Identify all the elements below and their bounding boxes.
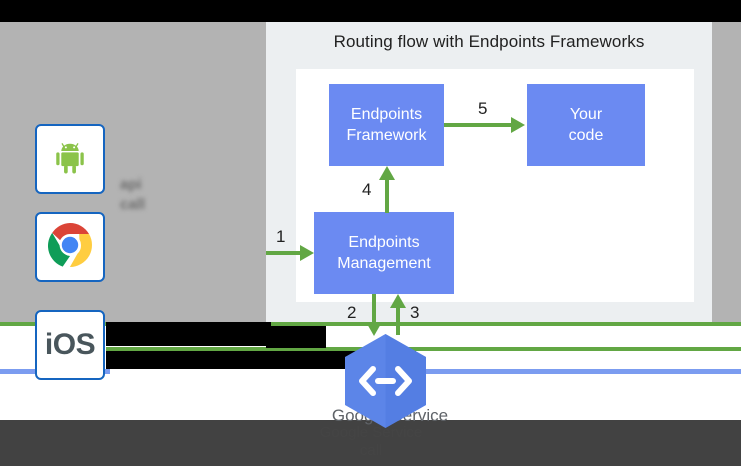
page-title: Routing flow with Endpoints Frameworks (266, 32, 712, 52)
top-black-bar (0, 0, 741, 22)
node-endpoints-framework-label-line2: Framework (346, 125, 426, 146)
ios-text: iOS (45, 328, 95, 362)
bottom-ghost-text-line-2: call (271, 442, 471, 459)
step-label-2: 2 (347, 303, 356, 323)
obscured-note-line-2: call (120, 196, 145, 213)
android-icon (48, 135, 92, 184)
cloud-endpoints-hexagon-icon[interactable] (343, 333, 428, 429)
node-endpoints-management-label-line2: Management (337, 253, 430, 274)
arrow-3-line (396, 305, 400, 335)
screenshot-root: api call Routing flow with Endpoints Fra… (0, 0, 741, 466)
node-your-code[interactable]: Your code (527, 84, 645, 166)
node-your-code-label-line1: Your (569, 104, 604, 125)
step-label-1: 1 (276, 227, 285, 247)
arrow-4-line (385, 177, 389, 213)
node-endpoints-framework-label-line1: Endpoints (346, 104, 426, 125)
arrow-2-head (366, 322, 382, 336)
arrow-1-head (300, 245, 314, 261)
arrow-5-line (444, 123, 512, 127)
arrow-5-head (511, 117, 525, 133)
arrow-3-head (390, 294, 406, 308)
occlusion-block-9 (266, 326, 326, 348)
arrow-1-line (266, 251, 301, 255)
step-label-4: 4 (362, 180, 371, 200)
obscured-note-line-1: api (120, 176, 142, 193)
chrome-icon (46, 221, 94, 274)
node-endpoints-framework[interactable]: Endpoints Framework (329, 84, 444, 166)
step-label-3: 3 (410, 303, 419, 323)
green-rule-card-bottom (266, 322, 741, 326)
arrow-4-head (379, 166, 395, 180)
client-tile-chrome[interactable] (35, 212, 105, 282)
client-tile-ios[interactable]: iOS (35, 310, 105, 380)
node-your-code-label-line2: code (569, 125, 604, 146)
step-label-5: 5 (478, 99, 487, 119)
node-endpoints-management-label-line1: Endpoints (337, 232, 430, 253)
blue-rule-right (406, 369, 741, 374)
client-tile-android[interactable] (35, 124, 105, 194)
right-gray-backdrop (712, 22, 741, 322)
node-endpoints-management[interactable]: Endpoints Management (314, 212, 454, 294)
arrow-2-line (372, 294, 376, 323)
